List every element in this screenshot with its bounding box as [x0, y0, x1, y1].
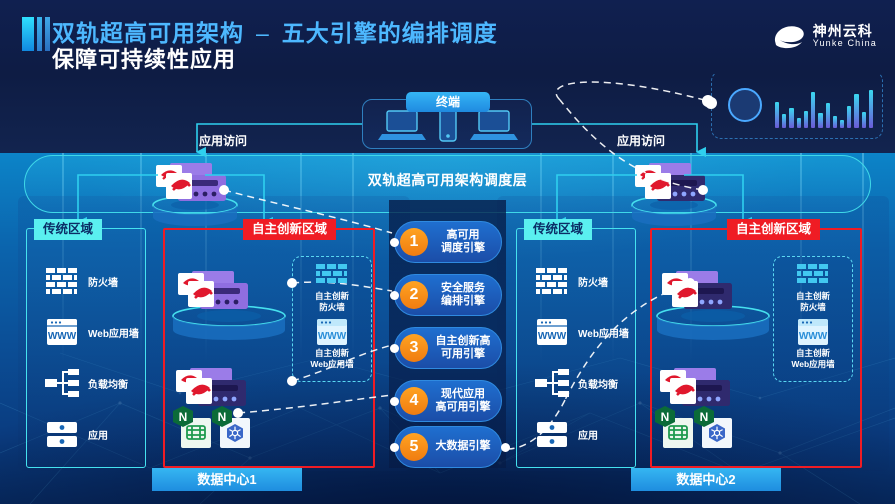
application-server-icon [535, 420, 569, 448]
dc2-inner-waf-caption: 自主创新 Web应用墙 [771, 348, 855, 369]
slide-canvas: 双轨超高可用架构调度层 [0, 0, 895, 504]
dc2-inner-firewall-caption: 自主创新 防火墙 [771, 291, 855, 312]
svg-text:WWW: WWW [538, 331, 567, 342]
scheduling-server-stack-right [635, 161, 707, 207]
firewall-brick-icon [535, 267, 569, 295]
dc2-inner-waf-caption-line1: 自主创新 [771, 348, 855, 359]
engine-1-connector-dot [390, 238, 399, 247]
dc1-server-stack-top [178, 269, 250, 315]
engine-3-number: 3 [400, 334, 428, 362]
engine-item-4[interactable]: 4 现代应用 高可用引擎 [394, 380, 502, 422]
app-access-label-left: 应用访问 [199, 132, 247, 149]
firewall-brick-icon [45, 267, 79, 295]
phone-icon [438, 108, 458, 142]
circle-ring-icon [728, 88, 762, 122]
slide-header: 双轨超高可用架构–五大引擎的编排调度 保障可持续性应用 神州云科 Yunke C… [0, 0, 895, 74]
engine-5-connector-dot-left [390, 443, 399, 452]
load-balance-icon [45, 369, 79, 397]
engine-4-label-line2: 高可用引擎 [428, 401, 498, 414]
firewall-brick-icon [793, 263, 833, 291]
engine-1-number: 1 [400, 228, 428, 256]
engine-2-connector-dot [390, 291, 399, 300]
decorative-endpoint-dot [705, 97, 717, 109]
page-title-sub: 五大引擎的编排调度 [282, 20, 498, 46]
engine-item-2[interactable]: 2 安全服务 编排引擎 [394, 274, 502, 316]
dc1-service-lb: 负载均衡 [45, 369, 128, 397]
engine-4-label-line1: 现代应用 [428, 388, 498, 401]
engine-3-label: 自主创新高 可用引擎 [428, 335, 501, 361]
web-window-icon: WWW [796, 318, 830, 346]
dc2-inner-firewall-caption-line1: 自主创新 [771, 291, 855, 302]
dc1-badge-kubernetes: N [212, 404, 254, 450]
web-window-icon: WWW [45, 318, 79, 346]
engine-item-5[interactable]: 5 大数据引擎 [394, 426, 502, 468]
scheduling-server-stack-left [156, 161, 228, 207]
engine-5-connector-dot-right [501, 443, 510, 452]
engine-2-label-line2: 编排引擎 [428, 295, 498, 308]
dc2-inner-firewall-caption-line2: 防火墙 [771, 302, 855, 313]
svg-text:N: N [661, 410, 670, 424]
engine-5-label: 大数据引擎 [428, 440, 501, 453]
dc2-badge-service-mesh: N [655, 404, 697, 450]
dc2-server-stack-top [662, 269, 734, 315]
dc2-service-app-label: 应用 [578, 427, 598, 442]
engine-2-label: 安全服务 编排引擎 [428, 282, 501, 308]
svg-text:N: N [179, 410, 188, 424]
dc2-innovation-zone-tag: 自主创新区域 [727, 219, 820, 240]
page-subtitle: 保障可持续性应用 [52, 42, 236, 74]
engine-2-number: 2 [400, 281, 428, 309]
web-window-icon: WWW [535, 318, 569, 346]
dc1-service-app: 应用 [45, 420, 108, 448]
dc1-inner-waf-caption-line1: 自主创新 [290, 348, 374, 359]
dc1-traditional-zone-tag: 传统区域 [34, 219, 102, 240]
brand-logo-en: Yunke China [813, 39, 877, 48]
firewall-brick-icon [312, 263, 352, 291]
application-server-icon [45, 420, 79, 448]
load-balance-icon [535, 369, 569, 397]
dc1-service-waf-label: Web应用墙 [88, 325, 139, 340]
dc2-service-waf: WWW Web应用墙 [535, 318, 629, 346]
brand-logo-text: 神州云科 Yunke China [813, 24, 877, 48]
dc2-service-firewall-label: 防火墙 [578, 274, 608, 289]
terminal-label-chip: 终端 [406, 92, 490, 112]
web-window-icon: WWW [315, 318, 349, 346]
dc1-inner-waf-caption: 自主创新 Web应用墙 [290, 348, 374, 369]
app-access-label-right: 应用访问 [617, 132, 665, 149]
engine-4-label: 现代应用 高可用引擎 [428, 388, 501, 414]
engine-item-1[interactable]: 1 高可用 调度引擎 [394, 221, 502, 263]
engine-3-label-line2: 可用引擎 [428, 348, 498, 361]
dc1-service-app-label: 应用 [88, 427, 108, 442]
dc1-service-firewall-label: 防火墙 [88, 274, 118, 289]
svg-text:WWW: WWW [48, 331, 77, 342]
brand-logo-cn: 神州云科 [813, 24, 877, 39]
engine-1-label-line2: 调度引擎 [428, 242, 498, 255]
yunke-swirl-icon [772, 22, 806, 50]
dc2-service-firewall: 防火墙 [535, 267, 608, 295]
engine-item-3[interactable]: 3 自主创新高 可用引擎 [394, 327, 502, 369]
dc1-service-waf: WWW Web应用墙 [45, 318, 139, 346]
dc1-inner-firewall-caption: 自主创新 防火墙 [290, 291, 374, 312]
svg-text:N: N [218, 410, 227, 424]
svg-text:WWW: WWW [318, 331, 347, 342]
dc2-service-lb: 负载均衡 [535, 369, 618, 397]
engine-4-number: 4 [400, 387, 428, 415]
brand-logo: 神州云科 Yunke China [772, 22, 877, 50]
three-bars-icon [22, 17, 50, 51]
engine-3-label-line1: 自主创新高 [428, 335, 498, 348]
engine-5-label-line1: 大数据引擎 [428, 440, 498, 453]
dc1-inner-firewall-caption-line1: 自主创新 [290, 291, 374, 302]
engine-5-number: 5 [400, 433, 428, 461]
dc2-service-app: 应用 [535, 420, 598, 448]
engine-2-label-line1: 安全服务 [428, 282, 498, 295]
bar-chart-icon [775, 84, 873, 128]
dc1-service-firewall: 防火墙 [45, 267, 118, 295]
svg-text:N: N [700, 410, 709, 424]
dc1-innovation-zone-tag: 自主创新区域 [243, 219, 336, 240]
engine-3-connector-dot [390, 344, 399, 353]
page-title-dash: – [244, 20, 282, 46]
dc2-traditional-zone-tag: 传统区域 [524, 219, 592, 240]
engine-1-label-line1: 高可用 [428, 229, 498, 242]
datacenter-1-tag: 数据中心1 [152, 468, 302, 491]
scheduling-layer-title: 双轨超高可用架构调度层 [0, 170, 895, 190]
dc1-inner-waf-caption-line2: Web应用墙 [290, 359, 374, 370]
dc2-badge-kubernetes: N [694, 404, 736, 450]
svg-text:WWW: WWW [799, 331, 828, 342]
dc2-service-lb-label: 负载均衡 [578, 376, 618, 391]
engine-4-connector-dot [390, 397, 399, 406]
engine-1-label: 高可用 调度引擎 [428, 229, 501, 255]
dc2-inner-waf-caption-line2: Web应用墙 [771, 359, 855, 370]
dc1-inner-firewall-caption-line2: 防火墙 [290, 302, 374, 313]
laptop-icon [471, 110, 517, 142]
datacenter-2-tag: 数据中心2 [631, 468, 781, 491]
dc2-service-waf-label: Web应用墙 [578, 325, 629, 340]
dc1-service-lb-label: 负载均衡 [88, 376, 128, 391]
dc1-badge-service-mesh: N [173, 404, 215, 450]
laptop-icon [380, 110, 424, 142]
